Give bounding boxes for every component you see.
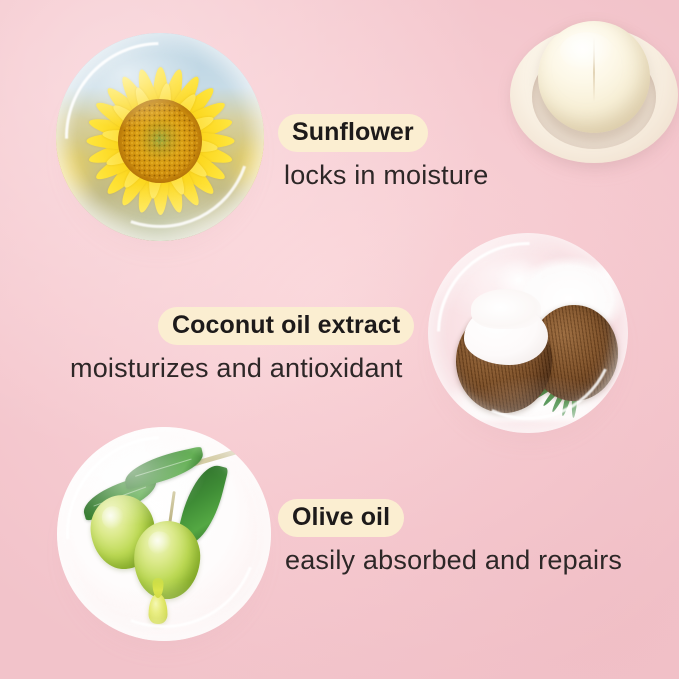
coconut-photo [428,233,628,433]
olive-ingredient-sphere [57,427,271,641]
coconut-cream [464,305,548,365]
sunflower-photo [56,33,264,241]
coconut-text-block: Coconut oil extract moisturizes and anti… [149,307,414,384]
sunflower-seed-disc [118,99,202,183]
lip-balm-product-image [506,9,679,185]
olive-text-block: Olive oil easily absorbed and repairs [278,499,622,576]
olive-title-pill: Olive oil [278,499,404,537]
lip-balm-seam [593,37,595,102]
sunflower-title-pill: Sunflower [278,114,428,152]
coconut-benefit-text: moisturizes and antioxidant [70,352,414,384]
infographic-canvas: Sunflower locks in moisture [0,0,679,679]
lip-balm-sphere-dome [538,21,650,133]
sunflower-ingredient-sphere [56,33,264,241]
olive-photo [57,427,271,641]
coconut-ingredient-sphere [428,233,628,433]
sunflower-text-block: Sunflower locks in moisture [278,114,488,191]
olive-benefit-text: easily absorbed and repairs [285,544,622,576]
sunflower-bloom [74,55,246,227]
coconut-title-pill: Coconut oil extract [158,307,414,345]
olive-oil-droplet [148,594,167,624]
sunflower-benefit-text: locks in moisture [284,159,488,191]
